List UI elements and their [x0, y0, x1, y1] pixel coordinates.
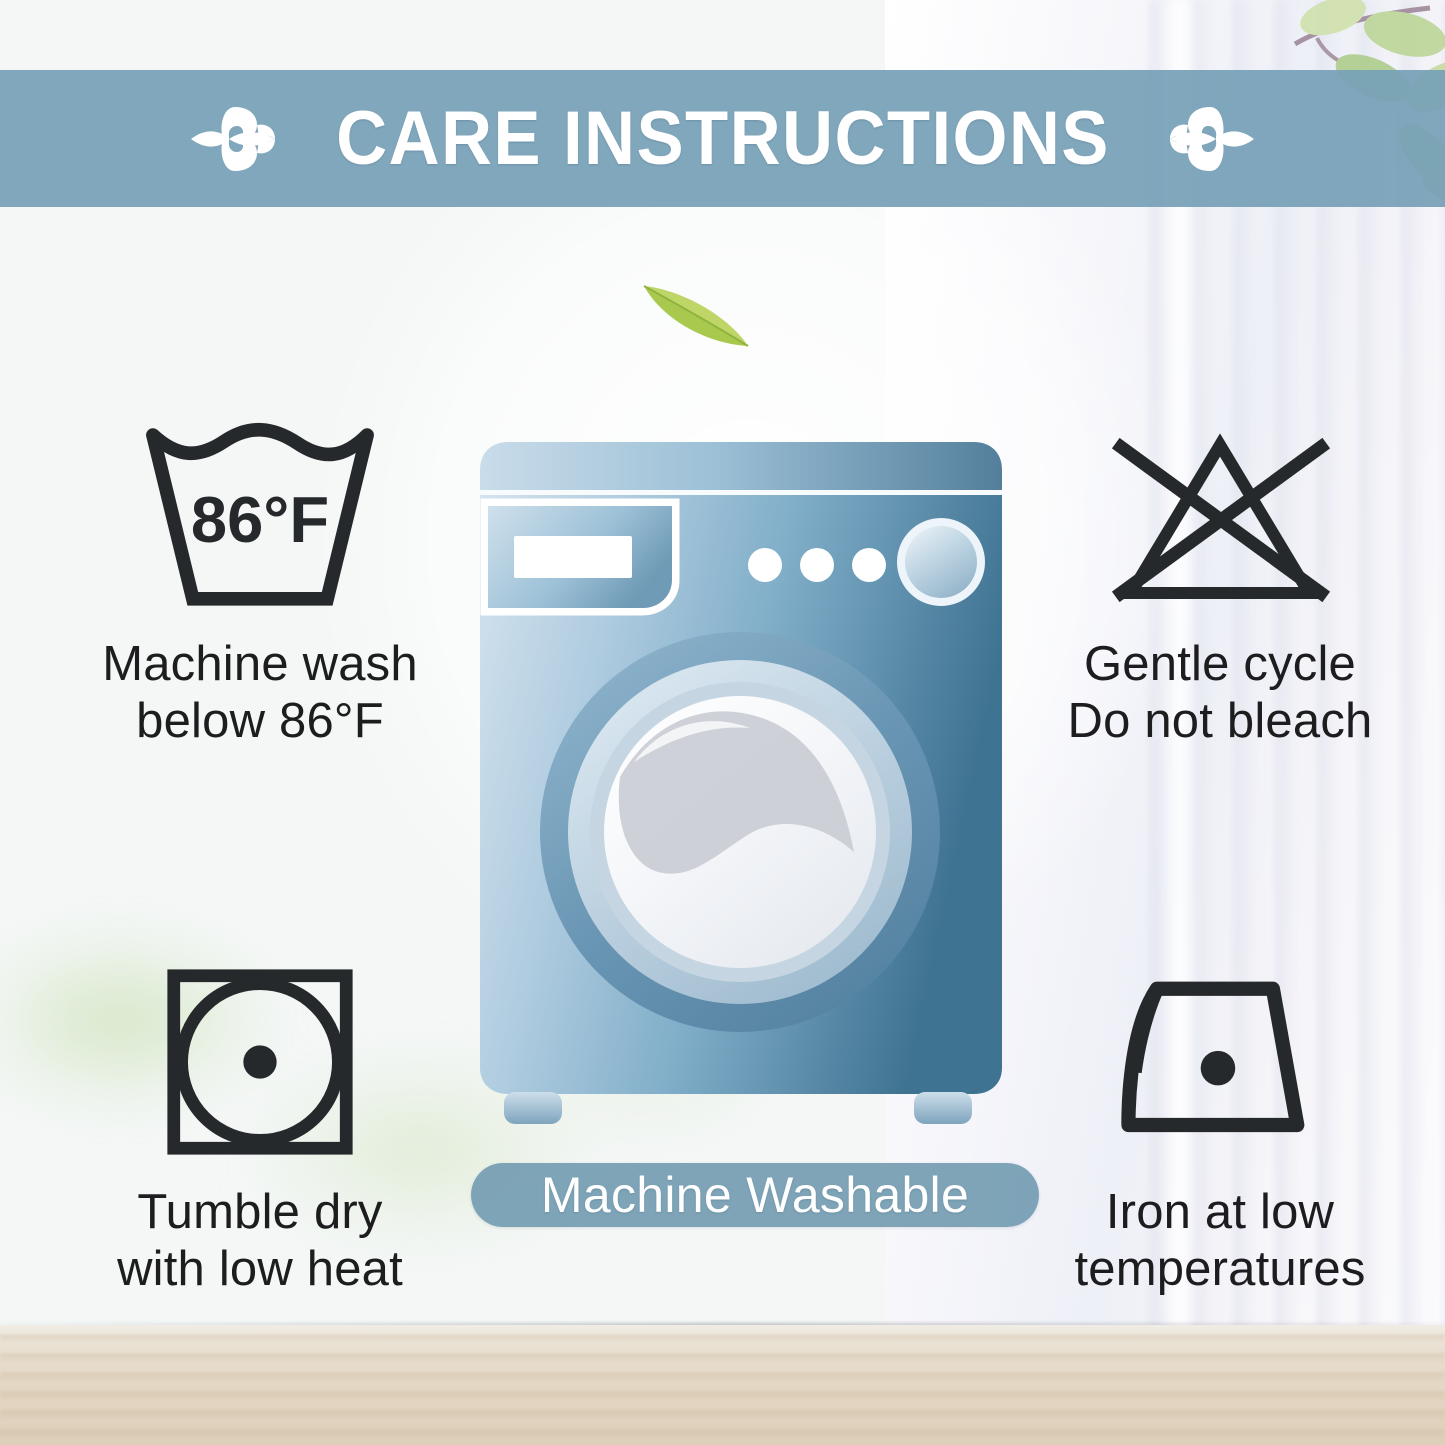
care-symbol-iron: Iron at low temperatures: [1000, 962, 1440, 1298]
care-symbol-tumble-dry: Tumble dry with low heat: [30, 962, 490, 1298]
indicator-light: [800, 548, 834, 582]
triangle-crossed-icon: [1000, 418, 1440, 618]
indicator-light: [852, 548, 886, 582]
machine-foot: [914, 1092, 972, 1124]
fleur-de-lis-icon-right: [1164, 101, 1260, 177]
page-title: CARE INSTRUCTIONS: [336, 101, 1110, 177]
detergent-drawer-slot: [514, 536, 632, 578]
badge-label: Machine Washable: [541, 1170, 969, 1220]
machine-washable-badge: Machine Washable: [471, 1163, 1039, 1227]
care-symbol-caption: Gentle cycle Do not bleach: [1000, 636, 1440, 750]
indicator-light: [748, 548, 782, 582]
care-symbol-caption: Iron at low temperatures: [1000, 1184, 1440, 1298]
care-symbol-caption: Tumble dry with low heat: [30, 1184, 490, 1298]
control-dial: [905, 526, 977, 598]
washing-machine-illustration: [462, 432, 1018, 1132]
care-instructions-infographic: CARE INSTRUCTIONS 86°F Machi: [0, 0, 1445, 1445]
machine-foot: [504, 1092, 562, 1124]
banner: CARE INSTRUCTIONS: [0, 70, 1445, 207]
machine-top-lid: [480, 442, 1002, 490]
fleur-de-lis-icon-left: [185, 101, 281, 177]
wooden-table-surface: [0, 1325, 1445, 1445]
care-symbol-machine-wash: 86°F Machine wash below 86°F: [30, 418, 490, 750]
floating-leaf-decoration: [636, 272, 756, 354]
tumble-dry-square-circle-icon: [30, 962, 490, 1162]
care-symbol-do-not-bleach: Gentle cycle Do not bleach: [1000, 418, 1440, 750]
iron-one-dot-icon: [1000, 962, 1440, 1162]
care-symbol-caption: Machine wash below 86°F: [30, 636, 490, 750]
wash-temperature-value: 86°F: [191, 483, 329, 556]
wash-tub-icon: 86°F: [30, 418, 490, 618]
